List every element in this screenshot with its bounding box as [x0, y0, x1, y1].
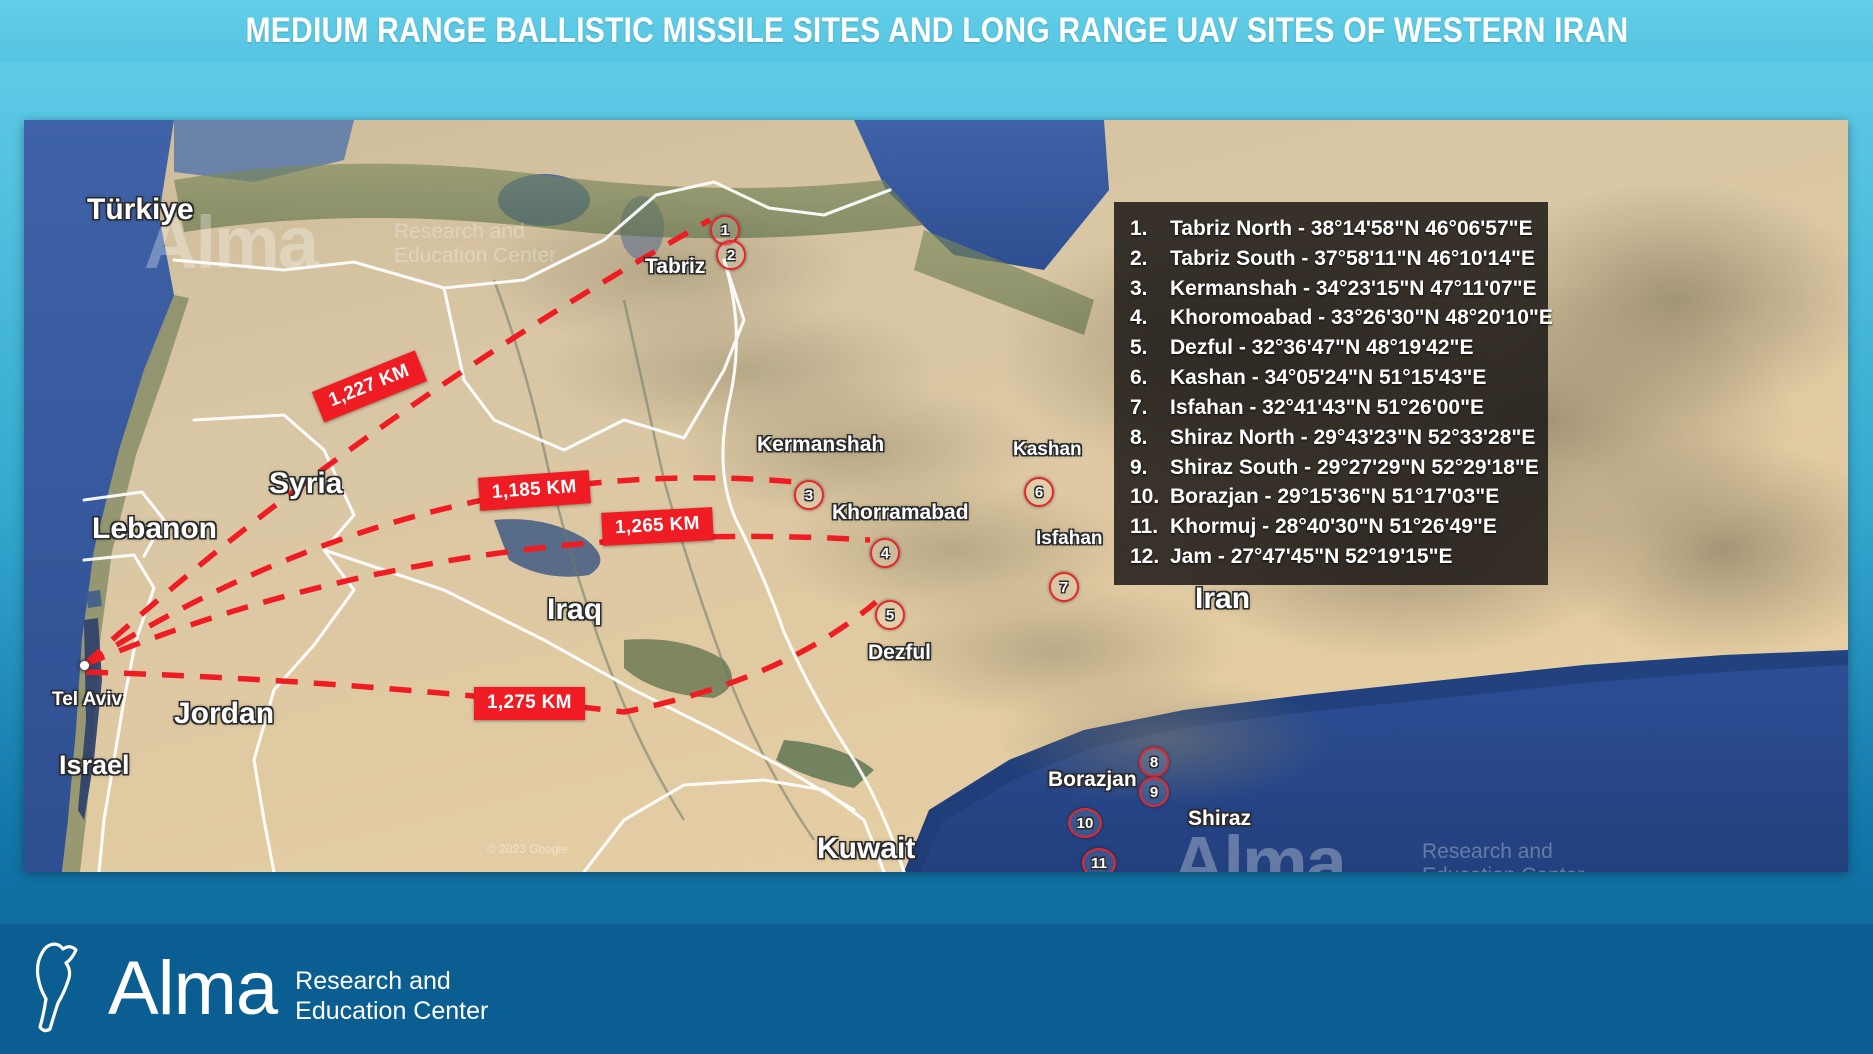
legend-item-8: 8.Shiraz North - 29°43'23"N 52°33'28"E: [1130, 423, 1534, 453]
legend-item-9: 9.Shiraz South - 29°27'29"N 52°29'18"E: [1130, 453, 1534, 483]
legend-item-text: Khormuj - 28°40'30"N 51°26'49"E: [1170, 512, 1497, 542]
legend-item-4: 4.Khoromoabad - 33°26'30"N 48°20'10"E: [1130, 303, 1534, 333]
legend-item-number: 7.: [1130, 393, 1170, 423]
legend-item-number: 10.: [1130, 482, 1170, 512]
legend-item-text: Shiraz South - 29°27'29"N 52°29'18"E: [1170, 453, 1539, 483]
site-marker-4[interactable]: 4: [870, 538, 900, 568]
page-title: MEDIUM RANGE BALLISTIC MISSILE SITES AND…: [245, 11, 1628, 51]
map-frame: Alma Research and Education Center Alma …: [0, 62, 1873, 1054]
legend-item-6: 6.Kashan - 34°05'24"N 51°15'43"E: [1130, 363, 1534, 393]
legend-item-text: Borazjan - 29°15'36"N 51°17'03"E: [1170, 482, 1499, 512]
legend-item-text: Jam - 27°47'45"N 52°19'15"E: [1170, 542, 1453, 572]
legend-item-number: 8.: [1130, 423, 1170, 453]
legend-item-text: Khoromoabad - 33°26'30"N 48°20'10"E: [1170, 303, 1553, 333]
site-marker-9[interactable]: 9: [1139, 777, 1169, 807]
site-marker-8[interactable]: 8: [1139, 747, 1169, 777]
legend-item-text: Shiraz North - 29°43'23"N 52°33'28"E: [1170, 423, 1535, 453]
site-marker-3[interactable]: 3: [794, 480, 824, 510]
alma-logo: Alma Research and Education Center: [30, 941, 488, 1037]
legend-item-number: 9.: [1130, 453, 1170, 483]
israel-map-icon: [30, 941, 96, 1037]
legend-item-7: 7.Isfahan - 32°41'43"N 51°26'00"E: [1130, 393, 1534, 423]
legend-item-number: 2.: [1130, 244, 1170, 274]
title-banner: MEDIUM RANGE BALLISTIC MISSILE SITES AND…: [0, 0, 1873, 62]
footer-tagline-line1: Research and: [295, 966, 488, 996]
site-marker-11[interactable]: 11: [1082, 848, 1116, 872]
footer-brand-tagline: Research and Education Center: [295, 966, 488, 1026]
legend-item-1: 1.Tabriz North - 38°14'58"N 46°06'57"E: [1130, 214, 1534, 244]
site-marker-7[interactable]: 7: [1049, 572, 1079, 602]
legend-item-number: 3.: [1130, 274, 1170, 304]
legend-item-5: 5.Dezful - 32°36'47"N 48°19'42"E: [1130, 333, 1534, 363]
legend-item-text: Kashan - 34°05'24"N 51°15'43"E: [1170, 363, 1486, 393]
satellite-map[interactable]: Alma Research and Education Center Alma …: [24, 120, 1848, 872]
legend-item-number: 1.: [1130, 214, 1170, 244]
footer-bar: Alma Research and Education Center: [0, 924, 1873, 1054]
legend-item-text: Tabriz North - 38°14'58"N 46°06'57"E: [1170, 214, 1533, 244]
legend-item-text: Isfahan - 32°41'43"N 51°26'00"E: [1170, 393, 1484, 423]
site-marker-5[interactable]: 5: [875, 600, 905, 630]
legend-item-text: Kermanshah - 34°23'15"N 47°11'07"E: [1170, 274, 1537, 304]
legend-item-2: 2.Tabriz South - 37°58'11"N 46°10'14"E: [1130, 244, 1534, 274]
origin-point-tel-aviv: [79, 660, 90, 671]
distance-label-1275: 1,275 KM: [474, 687, 585, 720]
footer-tagline-line2: Education Center: [295, 996, 488, 1026]
legend-item-number: 5.: [1130, 333, 1170, 363]
distance-label-1265: 1,265 KM: [601, 507, 713, 546]
legend-item-number: 12.: [1130, 542, 1170, 572]
site-marker-6[interactable]: 6: [1024, 477, 1054, 507]
site-marker-10[interactable]: 10: [1068, 808, 1102, 838]
map-imagery: [24, 120, 1848, 872]
legend-item-number: 11.: [1130, 512, 1170, 542]
site-legend-panel: 1.Tabriz North - 38°14'58"N 46°06'57"E2.…: [1114, 202, 1548, 585]
footer-brand-name: Alma: [108, 953, 277, 1025]
legend-item-10: 10.Borazjan - 29°15'36"N 51°17'03"E: [1130, 482, 1534, 512]
legend-item-12: 12.Jam - 27°47'45"N 52°19'15"E: [1130, 542, 1534, 572]
legend-item-number: 6.: [1130, 363, 1170, 393]
legend-item-text: Dezful - 32°36'47"N 48°19'42"E: [1170, 333, 1474, 363]
legend-item-11: 11.Khormuj - 28°40'30"N 51°26'49"E: [1130, 512, 1534, 542]
site-marker-2[interactable]: 2: [716, 240, 746, 270]
map-attribution: © 2023 Google: [487, 842, 568, 856]
legend-item-text: Tabriz South - 37°58'11"N 46°10'14"E: [1170, 244, 1535, 274]
legend-item-3: 3.Kermanshah - 34°23'15"N 47°11'07"E: [1130, 274, 1534, 304]
legend-item-number: 4.: [1130, 303, 1170, 333]
